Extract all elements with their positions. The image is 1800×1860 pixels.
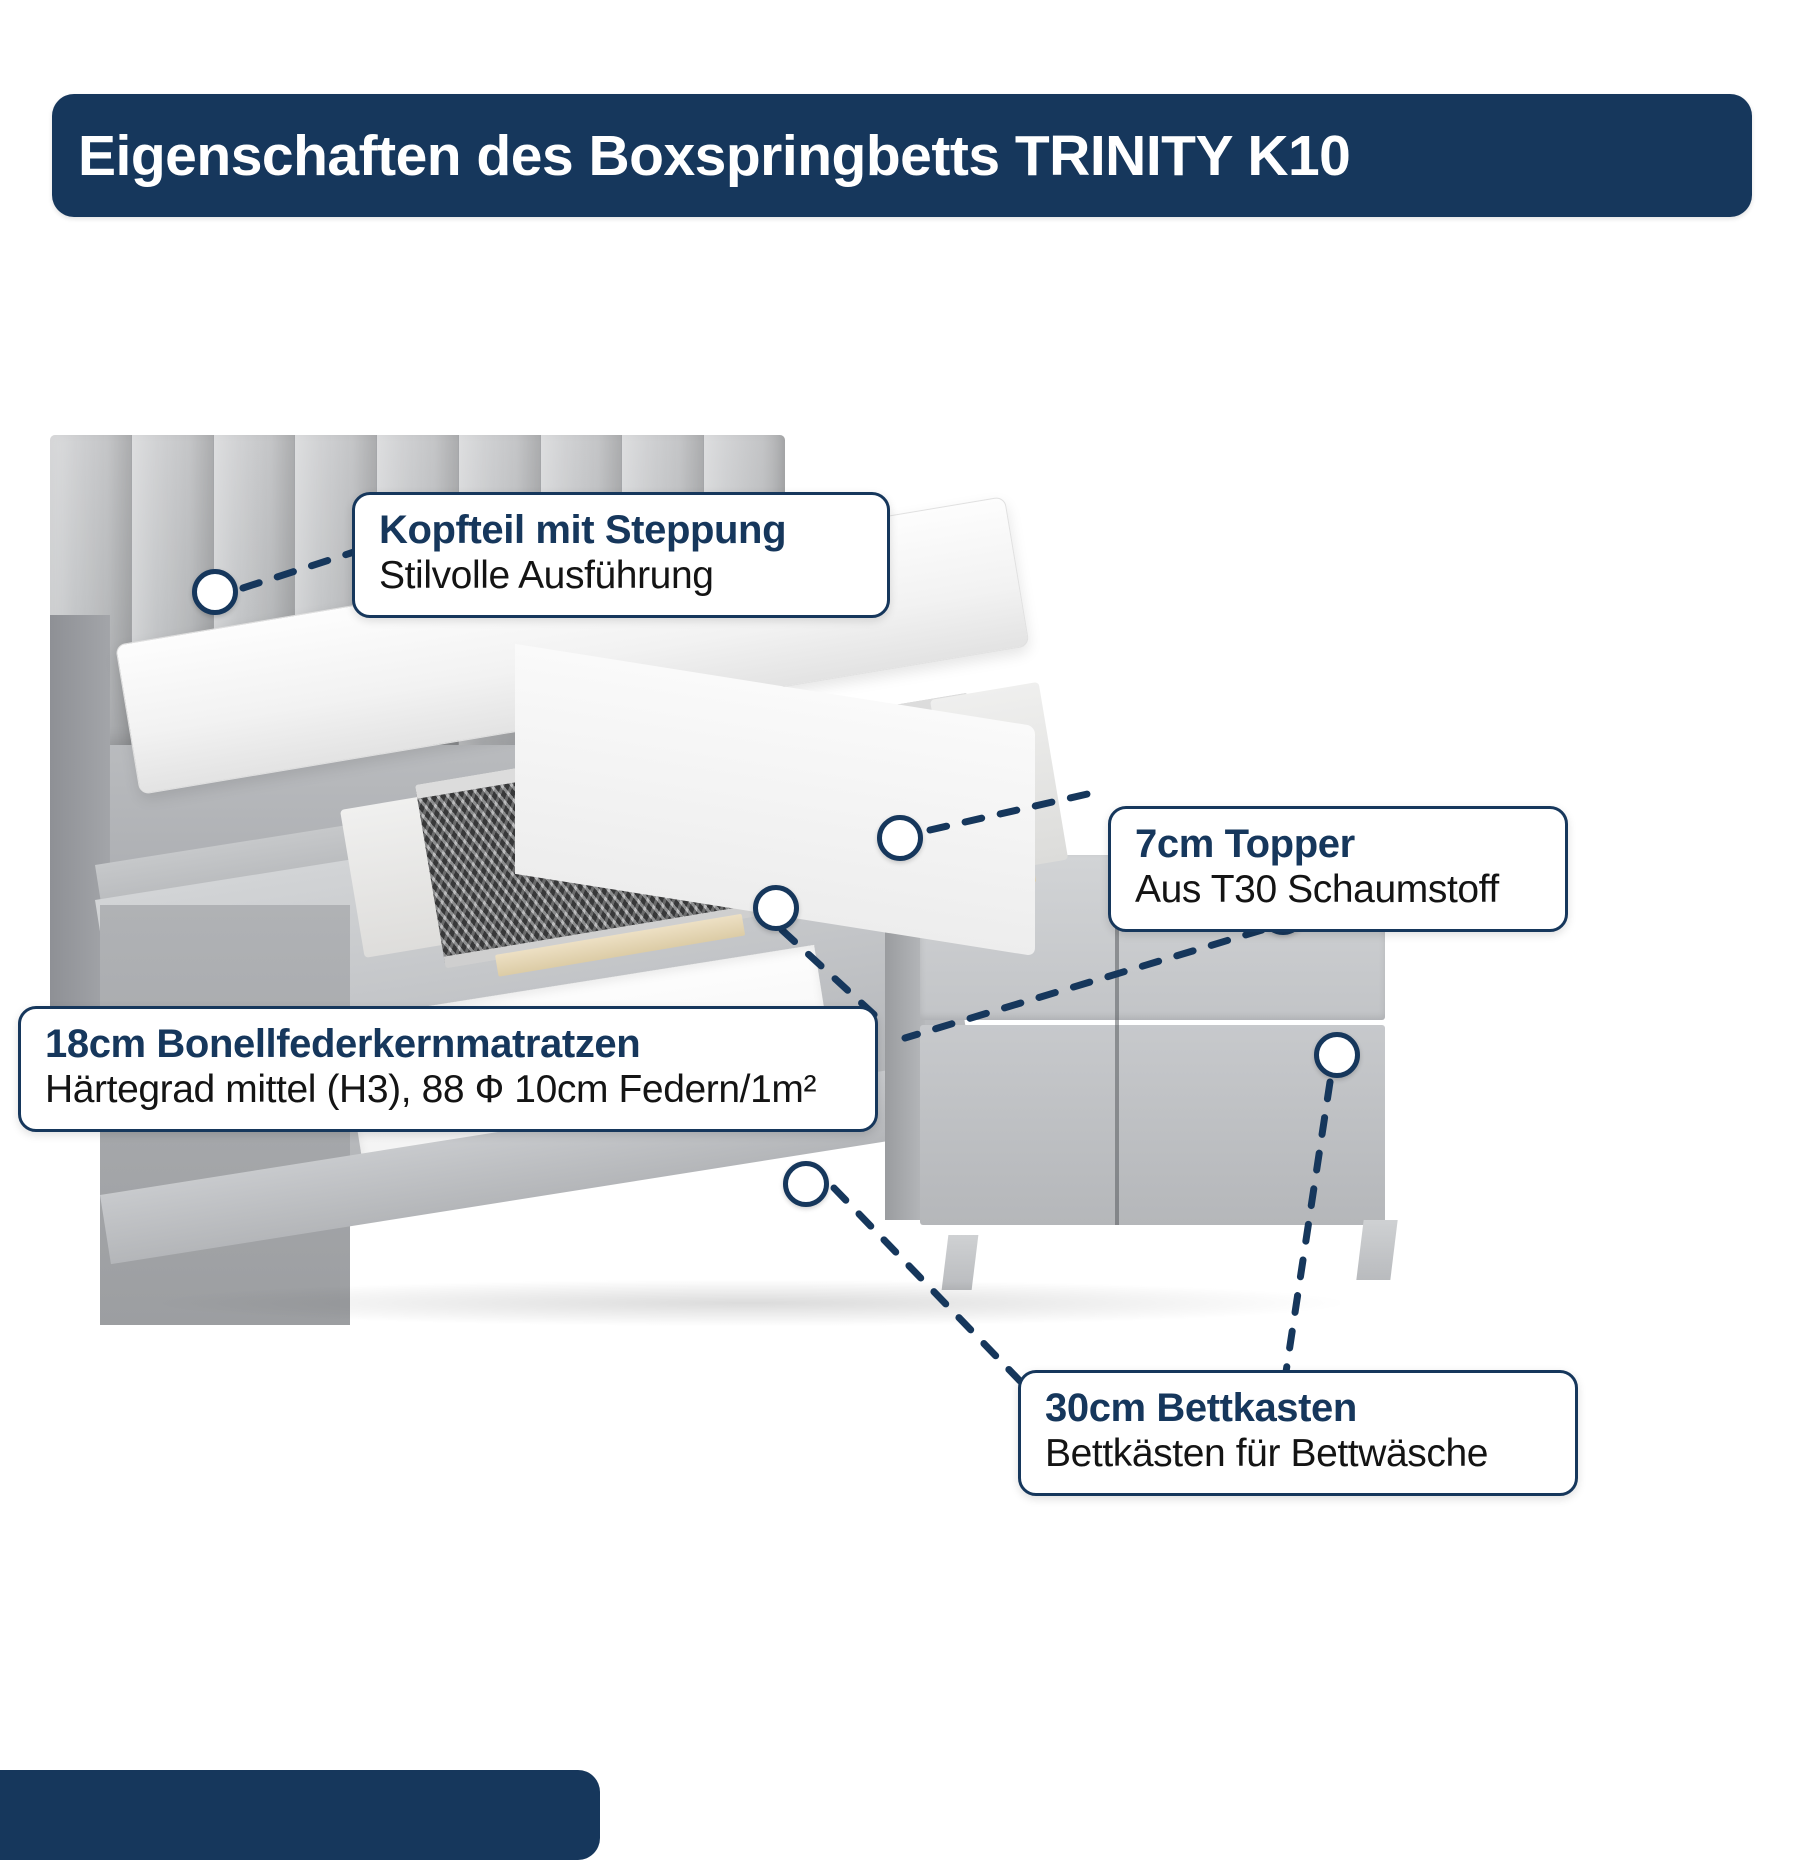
callout-topper-subtitle: Aus T30 Schaumstoff bbox=[1135, 867, 1541, 912]
callout-mattress-title: 18cm Bonellfederkernmatratzen bbox=[45, 1022, 851, 1067]
callout-topper-title: 7cm Topper bbox=[1135, 822, 1541, 867]
callout-mattress-subtitle: Härtegrad mittel (H3), 88 Ф 10cm Federn/… bbox=[45, 1067, 851, 1112]
bed-leg bbox=[1356, 1220, 1397, 1280]
marker-drawer-lower[interactable] bbox=[1314, 1032, 1360, 1078]
marker-mattress[interactable] bbox=[753, 885, 799, 931]
callout-headboard-title: Kopfteil mit Steppung bbox=[379, 508, 863, 553]
infographic-canvas: Eigenschaften des Boxspringbetts TRINITY… bbox=[0, 0, 1800, 1800]
callout-headboard[interactable]: Kopfteil mit Steppung Stilvolle Ausführu… bbox=[352, 492, 890, 618]
marker-topper[interactable] bbox=[877, 815, 923, 861]
marker-base[interactable] bbox=[783, 1161, 829, 1207]
title-banner: Eigenschaften des Boxspringbetts TRINITY… bbox=[52, 94, 1752, 217]
callout-drawer-subtitle: Bettkästen für Bettwäsche bbox=[1045, 1431, 1551, 1476]
callout-mattress[interactable]: 18cm Bonellfederkernmatratzen Härtegrad … bbox=[18, 1006, 878, 1132]
callout-drawer-title: 30cm Bettkasten bbox=[1045, 1386, 1551, 1431]
callout-topper[interactable]: 7cm Topper Aus T30 Schaumstoff bbox=[1108, 806, 1568, 932]
bottom-banner-partial bbox=[0, 1770, 600, 1860]
callout-headboard-subtitle: Stilvolle Ausführung bbox=[379, 553, 863, 598]
floor-shadow bbox=[160, 1280, 1340, 1326]
callout-drawer[interactable]: 30cm Bettkasten Bettkästen für Bettwäsch… bbox=[1018, 1370, 1578, 1496]
page-title: Eigenschaften des Boxspringbetts TRINITY… bbox=[78, 123, 1350, 189]
marker-headboard[interactable] bbox=[192, 569, 238, 615]
